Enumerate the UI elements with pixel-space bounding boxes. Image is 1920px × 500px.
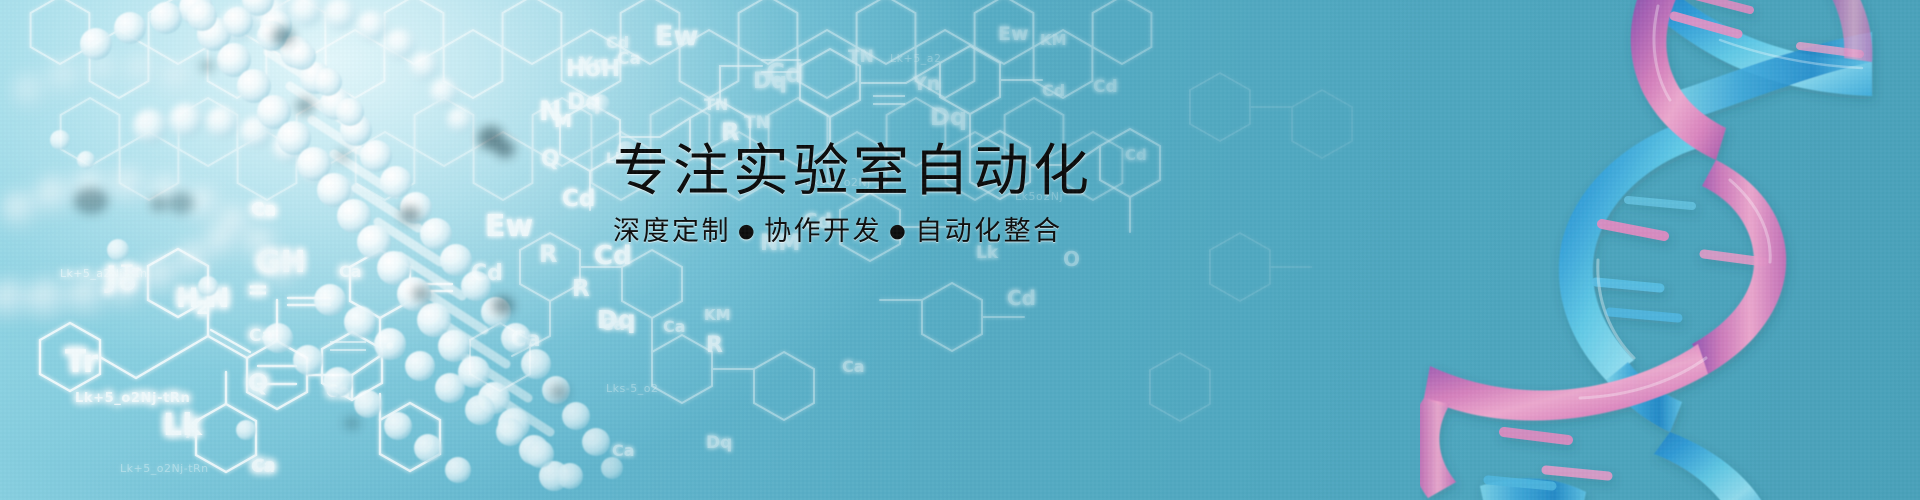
svg-text:Cd: Cd	[594, 241, 632, 271]
svg-text:Ca: Ca	[511, 327, 541, 351]
svg-text:J: J	[104, 260, 117, 294]
svg-text:Dq: Dq	[567, 90, 601, 115]
svg-text:Ca: Ca	[254, 201, 275, 219]
svg-text:Lk5o2Nj: Lk5o2Nj	[1015, 190, 1063, 203]
svg-text:HoH: HoH	[566, 56, 620, 82]
hero-subtitle: 深度定制●协作开发●自动化整合	[613, 218, 1063, 245]
svg-text:Tr: Tr	[65, 344, 99, 380]
svg-text:Cd: Cd	[803, 209, 832, 233]
svg-text:Lk+5_a2: Lk+5_a2	[890, 52, 941, 65]
svg-text:Lk+5_o2Nj-tRn: Lk+5_o2Nj-tRn	[120, 462, 209, 475]
bokeh-dot	[400, 206, 420, 223]
bokeh-dot	[200, 60, 214, 72]
svg-text:Yn: Yn	[912, 73, 940, 95]
svg-text:Cd: Cd	[1042, 81, 1065, 100]
svg-text:2: 2	[196, 297, 209, 319]
svg-text:Ca: Ca	[251, 457, 275, 477]
bokeh-dot	[495, 140, 515, 158]
banner-texture-overlay	[0, 0, 1920, 500]
svg-text:Ca: Ca	[326, 382, 350, 402]
svg-text:Ca: Ca	[253, 455, 276, 474]
svg-text:Ca: Ca	[251, 199, 276, 220]
svg-text:=: =	[247, 275, 269, 305]
svg-text:KM: KM	[1040, 31, 1067, 49]
pearl-helix-svg	[0, 0, 900, 500]
svg-text:Ca: Ca	[842, 357, 865, 376]
svg-text:NM: NM	[760, 231, 800, 256]
svg-text:Cd: Cd	[562, 186, 595, 212]
svg-text:KM: KM	[704, 306, 731, 324]
bokeh-dot	[550, 384, 568, 400]
svg-text:Cd: Cd	[1007, 286, 1036, 310]
svg-text:Dq: Dq	[753, 69, 787, 94]
bullet-separator-icon: ●	[882, 220, 915, 242]
svg-text:Ew: Ew	[655, 21, 698, 52]
pearl-dna-helix	[0, 0, 1920, 500]
svg-text:Lk+5_a2Nj-tRn: Lk+5_a2Nj-tRn	[60, 267, 147, 280]
bokeh-dot	[74, 188, 108, 214]
svg-text:TN: TN	[704, 95, 728, 114]
svg-text:N: N	[207, 283, 230, 314]
svg-text:Ew: Ew	[485, 209, 533, 244]
svg-text:Cd: Cd	[471, 261, 503, 286]
bokeh-dot	[412, 286, 430, 301]
svg-text:GH: GH	[256, 245, 306, 280]
bokeh-dot	[492, 296, 514, 315]
svg-text:r: r	[134, 263, 142, 281]
svg-text:N: N	[539, 96, 562, 127]
svg-text:Dq: Dq	[597, 305, 636, 334]
svg-text:Ca: Ca	[663, 317, 686, 336]
svg-text:Cd: Cd	[1125, 146, 1147, 164]
svg-text:Lks-5_o2Nj: Lks-5_o2Nj	[806, 176, 871, 189]
svg-text:Lk: Lk	[976, 243, 999, 263]
svg-text:O: O	[1063, 247, 1080, 271]
subtitle-part-2: 协作开发	[764, 216, 882, 247]
svg-text:Yn: Yn	[578, 53, 606, 75]
svg-text:Ca: Ca	[249, 326, 273, 346]
svg-text:Cd: Cd	[1093, 77, 1118, 97]
hero-banner: Tr J Tr o r H 2 N Ca Ca Q Lk Ca Ca	[0, 0, 1920, 500]
svg-text:H: H	[176, 283, 199, 314]
svg-text:R: R	[539, 240, 557, 268]
svg-text:A: A	[186, 426, 197, 442]
bokeh-dot	[150, 196, 168, 212]
svg-text:Lks-5_o2: Lks-5_o2	[606, 382, 658, 395]
svg-text:o: o	[119, 267, 136, 296]
svg-text:TN: TN	[744, 113, 770, 133]
svg-text:Dq: Dq	[706, 433, 732, 453]
hero-text-block: 专注实验室自动化 深度定制●协作开发●自动化整合	[0, 0, 1920, 500]
svg-text:Ca: Ca	[253, 201, 276, 220]
svg-text:R: R	[721, 118, 739, 146]
svg-text:Q: Q	[248, 369, 268, 397]
svg-text:Lk+5_o2Nj-tRn: Lk+5_o2Nj-tRn	[75, 391, 190, 406]
subtitle-part-3: 自动化整合	[915, 216, 1063, 247]
svg-text:R: R	[706, 333, 723, 358]
ribbon-helix-svg	[1420, 0, 1920, 500]
svg-text:TN: TN	[848, 47, 874, 67]
chem-lineart-svg: Tr J Tr o r H 2 N Ca Ca Q Lk Ca Ca	[0, 0, 1920, 500]
svg-text:Dq: Dq	[930, 103, 967, 131]
svg-text:M: M	[554, 111, 572, 132]
svg-text:Ca: Ca	[612, 441, 635, 460]
svg-text:Lk: Lk	[606, 151, 625, 167]
bokeh-dot	[296, 98, 314, 114]
subtitle-part-1: 深度定制	[613, 216, 731, 247]
svg-text:Cd: Cd	[606, 33, 629, 52]
ribbon-dna-helix	[0, 0, 1920, 500]
svg-text:Q: Q	[541, 147, 560, 172]
svg-text:Tr: Tr	[121, 262, 140, 282]
svg-text:Ca: Ca	[617, 49, 641, 69]
chemical-structure-overlay: Tr J Tr o r H 2 N Ca Ca Q Lk Ca Ca	[0, 0, 1920, 500]
bullet-separator-icon: ●	[731, 220, 764, 242]
bokeh-dot	[344, 416, 360, 430]
svg-text:Ca: Ca	[601, 315, 625, 335]
bokeh-dot	[272, 27, 294, 45]
svg-text:Cd: Cd	[766, 59, 804, 89]
bokeh-dot	[168, 192, 194, 214]
svg-text:R: R	[572, 276, 590, 302]
svg-text:Lk: Lk	[163, 408, 203, 443]
bokeh-dot	[336, 150, 350, 162]
svg-text:Ew: Ew	[998, 23, 1029, 45]
page-title: 专注实验室自动化	[613, 144, 1093, 200]
svg-text:Ca: Ca	[339, 262, 362, 281]
